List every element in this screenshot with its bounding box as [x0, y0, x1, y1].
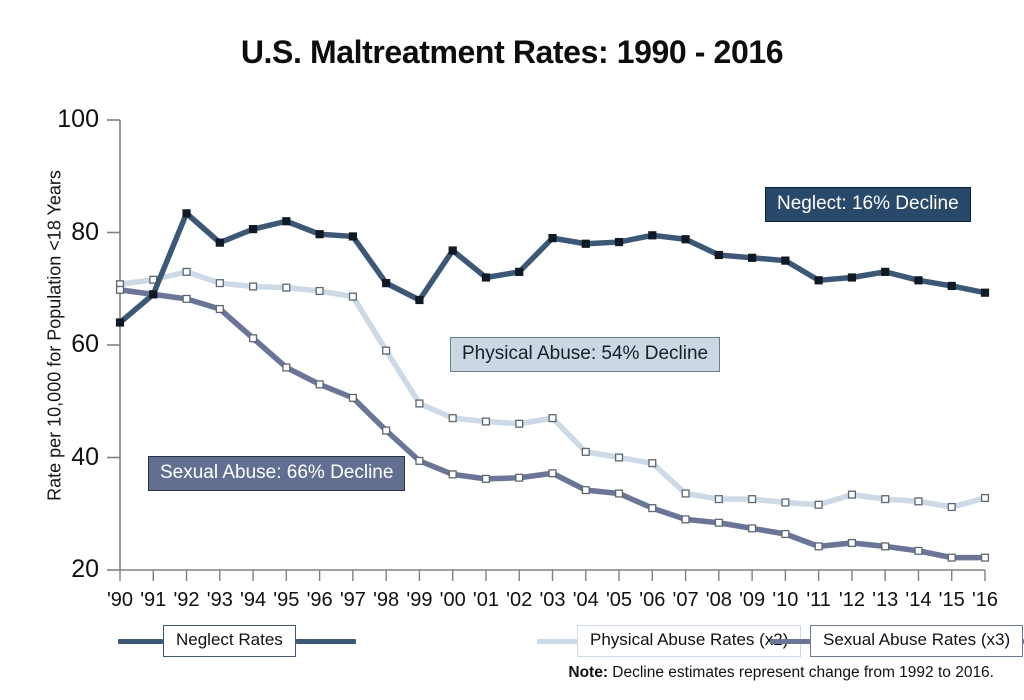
legend-swatch-left	[118, 639, 163, 644]
series-line	[120, 290, 985, 558]
data-point-marker	[649, 460, 656, 467]
data-point-marker	[383, 347, 390, 354]
data-point-marker	[249, 226, 256, 233]
series-neglect-rates	[116, 210, 988, 326]
data-point-marker	[483, 418, 490, 425]
data-point-marker	[349, 293, 356, 300]
data-point-marker	[948, 282, 955, 289]
data-point-marker	[882, 543, 889, 550]
note-label: Note:	[568, 664, 608, 681]
data-point-marker	[216, 239, 223, 246]
data-point-marker	[482, 274, 489, 281]
data-point-marker	[449, 415, 456, 422]
data-point-marker	[316, 381, 323, 388]
y-tick-label-80: 80	[45, 220, 99, 245]
annotation-physical-abuse-decline: Physical Abuse: 54% Decline	[450, 337, 720, 372]
note-text: Decline estimates represent change from …	[608, 664, 994, 681]
data-point-marker	[849, 491, 856, 498]
data-point-marker	[582, 448, 589, 455]
data-point-marker	[616, 490, 623, 497]
series-sexual-abuse-rates-x3	[117, 286, 989, 561]
legend-label: Physical Abuse Rates (x2)	[577, 625, 801, 657]
chart-note: Note: Decline estimates represent change…	[568, 664, 994, 682]
data-point-marker	[383, 280, 390, 287]
data-point-marker	[183, 295, 190, 302]
data-point-marker	[582, 240, 589, 247]
annotation-neglect-decline: Neglect: 16% Decline	[765, 187, 971, 222]
data-point-marker	[416, 296, 423, 303]
data-point-marker	[117, 286, 124, 293]
legend-label: Sexual Abuse Rates (x3)	[810, 625, 1023, 657]
data-point-marker	[449, 247, 456, 254]
data-point-marker	[516, 474, 523, 481]
data-point-marker	[915, 277, 922, 284]
data-point-marker	[216, 306, 223, 313]
data-point-marker	[815, 543, 822, 550]
data-point-marker	[715, 251, 722, 258]
y-tick-label-100: 100	[45, 107, 99, 132]
data-point-marker	[715, 519, 722, 526]
data-point-marker	[349, 233, 356, 240]
y-tick-label-40: 40	[45, 445, 99, 470]
data-point-marker	[483, 475, 490, 482]
legend-swatch-left	[537, 639, 577, 644]
data-point-marker	[416, 400, 423, 407]
data-point-marker	[848, 274, 855, 281]
data-point-marker	[416, 457, 423, 464]
data-point-marker	[982, 495, 989, 502]
data-point-marker	[749, 525, 756, 532]
data-point-marker	[948, 504, 955, 511]
data-point-marker	[150, 291, 157, 298]
data-point-marker	[782, 257, 789, 264]
data-point-marker	[682, 236, 689, 243]
data-point-marker	[283, 284, 290, 291]
legend-label: Neglect Rates	[163, 625, 296, 657]
data-point-marker	[549, 235, 556, 242]
y-tick-label-60: 60	[45, 332, 99, 357]
data-point-marker	[749, 496, 756, 503]
chart-container: U.S. Maltreatment Rates: 1990 - 2016 Rat…	[0, 0, 1024, 700]
data-point-marker	[216, 280, 223, 287]
data-point-marker	[183, 210, 190, 217]
data-point-marker	[882, 496, 889, 503]
data-point-marker	[549, 470, 556, 477]
data-point-marker	[982, 554, 989, 561]
data-point-marker	[882, 268, 889, 275]
data-point-marker	[616, 454, 623, 461]
legend-item-neglect-rates[interactable]: Neglect Rates	[118, 624, 356, 658]
data-point-marker	[782, 499, 789, 506]
data-point-marker	[349, 394, 356, 401]
data-point-marker	[283, 218, 290, 225]
data-point-marker	[715, 496, 722, 503]
chart-legend: Neglect RatesPhysical Abuse Rates (x2)Se…	[0, 624, 1024, 658]
data-point-marker	[649, 505, 656, 512]
data-point-marker	[649, 232, 656, 239]
data-point-marker	[283, 364, 290, 371]
legend-swatch-left	[770, 639, 810, 644]
data-point-marker	[549, 415, 556, 422]
data-point-marker	[615, 238, 622, 245]
data-point-marker	[981, 289, 988, 296]
data-point-marker	[449, 471, 456, 478]
data-point-marker	[316, 231, 323, 238]
annotation-sexual-abuse-decline: Sexual Abuse: 66% Decline	[148, 456, 405, 491]
data-point-marker	[782, 531, 789, 538]
data-point-marker	[582, 487, 589, 494]
data-series-group	[116, 210, 988, 561]
data-point-marker	[849, 540, 856, 547]
data-point-marker	[749, 254, 756, 261]
data-point-marker	[915, 498, 922, 505]
data-point-marker	[516, 268, 523, 275]
data-point-marker	[516, 420, 523, 427]
x-tick-label-16: '16	[963, 590, 1007, 610]
data-point-marker	[250, 283, 257, 290]
data-point-marker	[316, 288, 323, 295]
legend-swatch-right	[296, 639, 356, 644]
data-point-marker	[915, 547, 922, 554]
data-point-marker	[682, 490, 689, 497]
data-point-marker	[383, 427, 390, 434]
legend-item-sexual-abuse-rates-x3[interactable]: Sexual Abuse Rates (x3)	[770, 624, 1024, 658]
data-point-marker	[948, 554, 955, 561]
data-point-marker	[116, 319, 123, 326]
data-point-marker	[250, 335, 257, 342]
y-tick-label-20: 20	[45, 557, 99, 582]
data-point-marker	[183, 268, 190, 275]
data-point-marker	[815, 277, 822, 284]
data-point-marker	[682, 516, 689, 523]
data-point-marker	[815, 501, 822, 508]
